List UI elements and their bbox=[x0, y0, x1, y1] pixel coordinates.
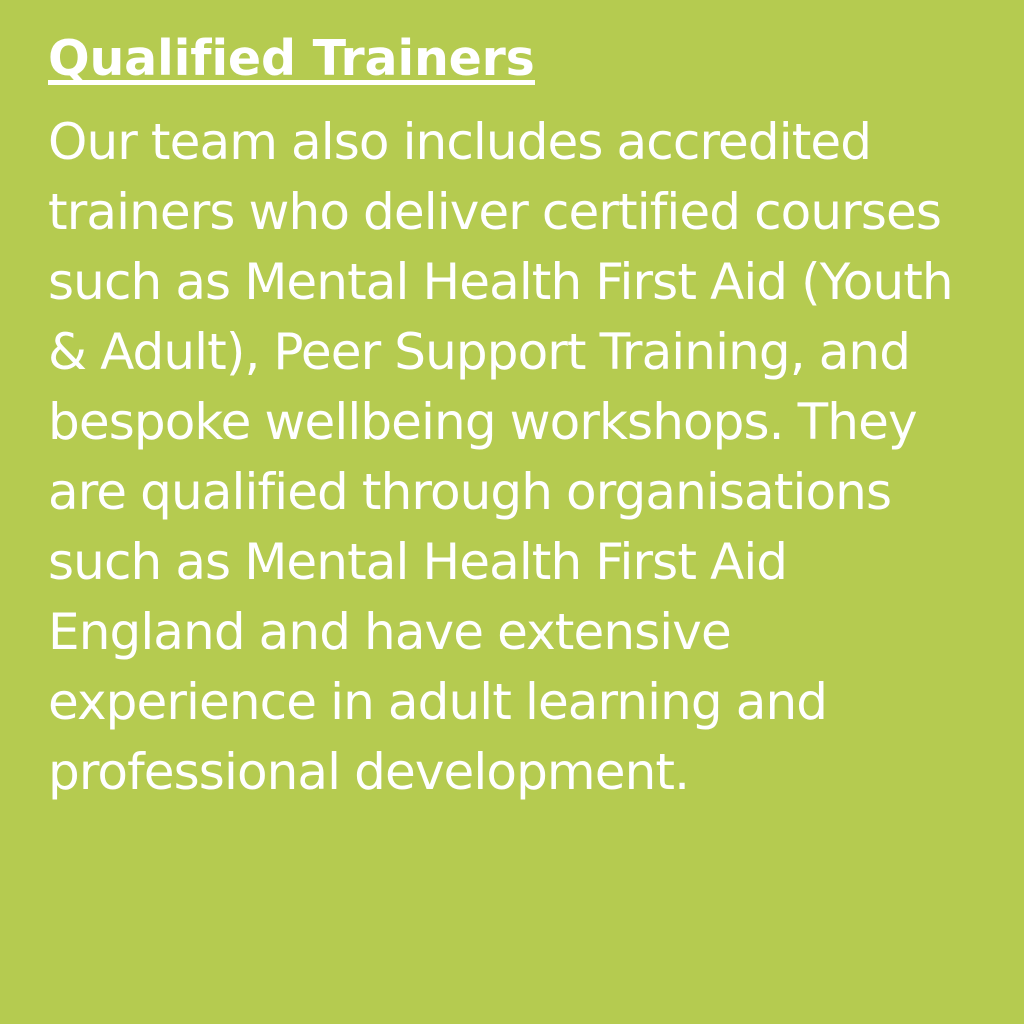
page-title: Qualified Trainers bbox=[48, 28, 535, 91]
body-paragraph: Our team also includes accredited traine… bbox=[48, 107, 972, 807]
heading-row: Qualified Trainers bbox=[48, 28, 972, 91]
qualified-trainers-card: Qualified Trainers Our team also include… bbox=[0, 0, 1024, 1024]
